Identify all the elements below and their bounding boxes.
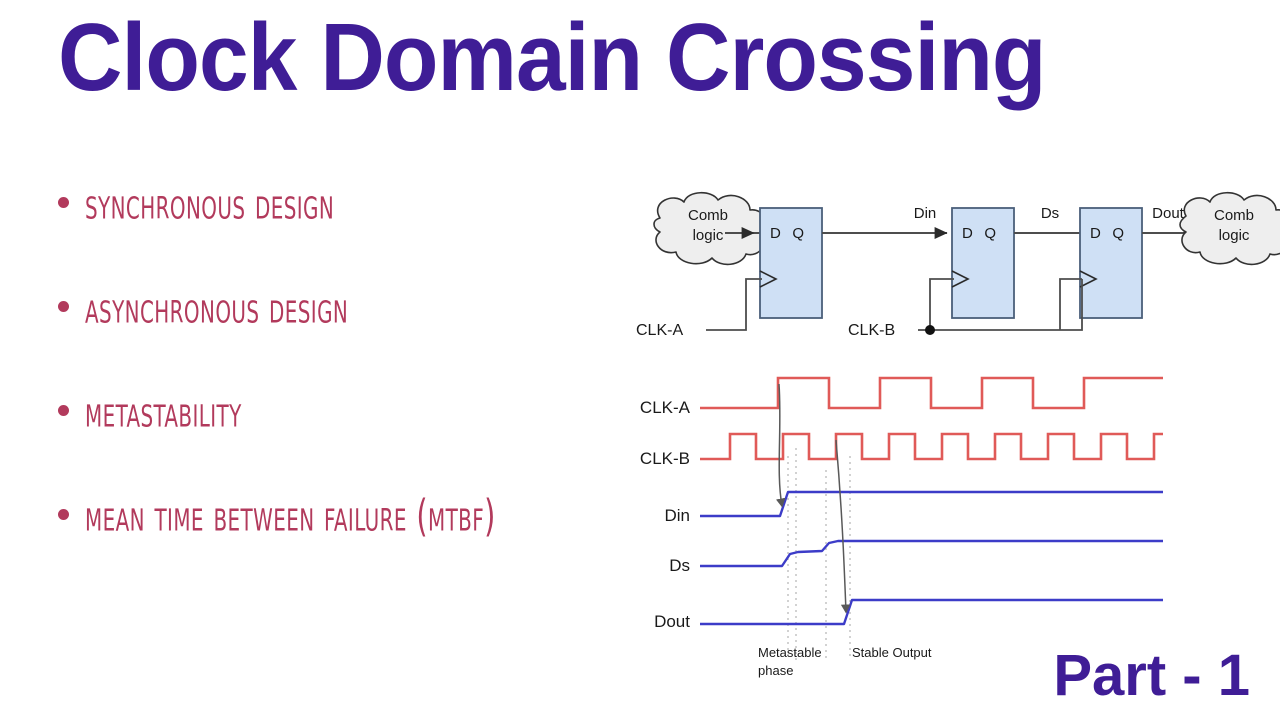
- comb-logic-left-line2: logic: [693, 227, 724, 244]
- circuit-clk-b-label: CLK-B: [848, 322, 895, 339]
- waveform-clk-a: [700, 378, 1163, 408]
- timing-diagram: CLK-A CLK-B Din Ds Dout Metastable phase…: [630, 360, 1175, 680]
- flipflop-2: D Q: [952, 208, 1014, 318]
- annotation-metastable-line1: Metastable: [758, 645, 822, 660]
- bullet-label: Synchronous Design: [85, 183, 334, 228]
- comb-logic-left-cloud: Comb logic: [654, 193, 765, 265]
- flipflop-1-q-label: Q: [792, 225, 804, 242]
- flipflop-1-d-label: D: [770, 225, 781, 242]
- list-item: Asynchronous Design: [58, 289, 678, 393]
- signal-label-ds: Ds: [1041, 205, 1059, 222]
- metastability-arrow-1: [779, 384, 782, 506]
- flipflop-3-q-label: Q: [1112, 225, 1124, 242]
- waveform-dout: [700, 600, 1163, 624]
- bullet-dot-icon: [58, 405, 69, 416]
- timing-guide-lines: [788, 448, 850, 660]
- list-item: Metastability: [58, 393, 678, 497]
- flipflop-3: D Q: [1080, 208, 1142, 318]
- bullet-list: Synchronous Design Asynchronous Design M…: [58, 185, 678, 601]
- circuit-diagram: Comb logic D Q Din D Q Ds: [630, 188, 1280, 348]
- list-item: Mean Time Between Failure (MTBF): [58, 497, 678, 601]
- timing-label-clk-b: CLK-B: [640, 449, 690, 468]
- annotation-metastable-line2: phase: [758, 663, 793, 678]
- annotation-stable-output: Stable Output: [852, 645, 932, 660]
- waveform-ds: [700, 541, 1163, 566]
- bullet-label: Mean Time Between Failure (MTBF): [85, 495, 496, 540]
- bullet-label: Metastability: [85, 391, 242, 436]
- bullet-dot-icon: [58, 301, 69, 312]
- bullet-dot-icon: [58, 197, 69, 208]
- clk-a-wire: [706, 279, 762, 330]
- clk-b-junction-dot-icon: [925, 325, 935, 335]
- metastability-arrow-2: [836, 440, 846, 612]
- waveform-din: [700, 492, 1163, 516]
- flipflop-1: D Q: [760, 208, 822, 318]
- signal-label-din: Din: [914, 205, 937, 222]
- comb-logic-right-line2: logic: [1219, 227, 1250, 244]
- circuit-clk-a-label: CLK-A: [636, 322, 683, 339]
- timing-label-ds: Ds: [669, 556, 690, 575]
- comb-logic-right-line1: Comb: [1214, 207, 1254, 224]
- list-item: Synchronous Design: [58, 185, 678, 289]
- timing-label-din: Din: [664, 506, 690, 525]
- flipflop-2-q-label: Q: [984, 225, 996, 242]
- bullet-dot-icon: [58, 509, 69, 520]
- waveform-clk-b: [700, 434, 1163, 459]
- bullet-label: Asynchronous Design: [85, 287, 348, 332]
- signal-label-dout: Dout: [1152, 205, 1185, 222]
- part-label: Part - 1: [1053, 644, 1250, 708]
- timing-label-clk-a: CLK-A: [640, 398, 691, 417]
- flipflop-2-d-label: D: [962, 225, 973, 242]
- timing-label-dout: Dout: [654, 612, 690, 631]
- clk-b-wire-ff2: [930, 279, 954, 330]
- flipflop-3-d-label: D: [1090, 225, 1101, 242]
- comb-logic-left-line1: Comb: [688, 207, 728, 224]
- page-title: Clock Domain Crossing: [58, 4, 1174, 112]
- comb-logic-right-cloud: Comb logic: [1180, 193, 1280, 265]
